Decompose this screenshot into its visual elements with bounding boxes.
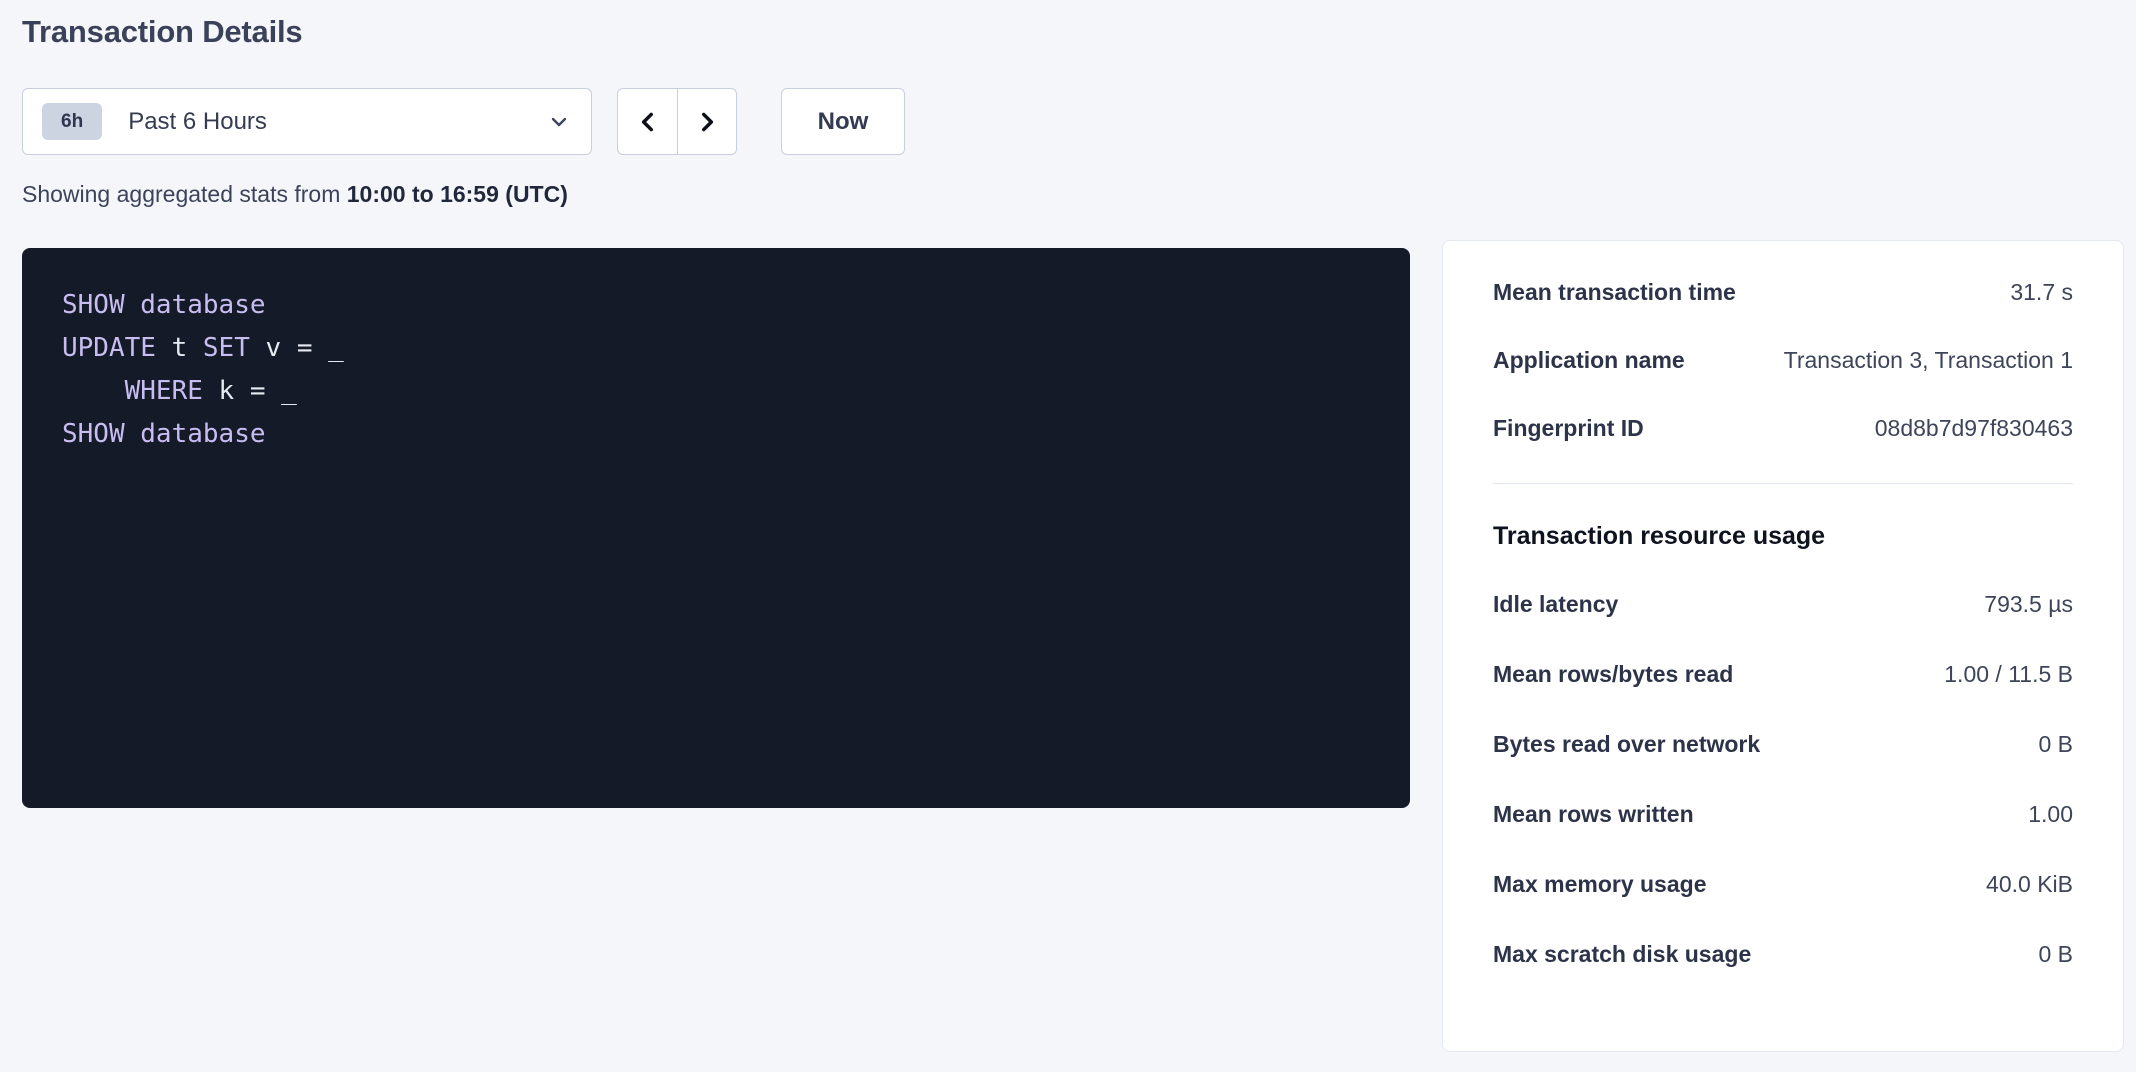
detail-row-label: Fingerprint ID — [1493, 415, 1644, 442]
detail-row: Fingerprint ID08d8b7d97f830463 — [1493, 415, 2073, 442]
detail-row-label: Idle latency — [1493, 591, 1618, 618]
code-keyword: database — [140, 290, 265, 320]
sql-code-block[interactable]: SHOW databaseUPDATE t SET v = _ WHERE k … — [22, 248, 1410, 808]
code-line: SHOW database — [62, 413, 1370, 456]
detail-row-label: Max scratch disk usage — [1493, 941, 1751, 968]
code-identifier — [125, 290, 141, 320]
time-nav-group — [617, 88, 737, 155]
detail-row: Max scratch disk usage0 B — [1493, 941, 2073, 968]
time-range-label: Past 6 Hours — [128, 108, 549, 136]
previous-range-button[interactable] — [617, 88, 677, 155]
code-line: SHOW database — [62, 284, 1370, 327]
code-identifier: v = _ — [250, 333, 344, 363]
detail-row: Application nameTransaction 3, Transacti… — [1493, 347, 2073, 374]
code-keyword: WHERE — [125, 376, 203, 406]
resource-usage-rows: Idle latency793.5 µsMean rows/bytes read… — [1493, 591, 2073, 968]
code-line: WHERE k = _ — [62, 370, 1370, 413]
code-identifier: t — [156, 333, 203, 363]
transaction-details-card: Mean transaction time31.7 sApplication n… — [1442, 240, 2124, 1052]
detail-row-value: 08d8b7d97f830463 — [1875, 415, 2073, 442]
detail-row: Max memory usage40.0 KiB — [1493, 871, 2073, 898]
code-keyword: SHOW — [62, 419, 125, 449]
detail-row-label: Mean rows written — [1493, 801, 1694, 828]
detail-row-value: Transaction 3, Transaction 1 — [1784, 347, 2073, 374]
page-title: Transaction Details — [22, 14, 302, 50]
detail-row: Mean rows/bytes read1.00 / 11.5 B — [1493, 661, 2073, 688]
chevron-down-icon — [549, 112, 569, 132]
detail-row-label: Max memory usage — [1493, 871, 1706, 898]
detail-row-value: 1.00 — [2028, 801, 2073, 828]
chevron-right-icon — [694, 109, 720, 135]
time-range-badge: 6h — [42, 103, 102, 140]
now-button[interactable]: Now — [781, 88, 905, 155]
detail-row-value: 31.7 s — [2010, 279, 2073, 306]
caption-prefix: Showing aggregated stats from — [22, 181, 347, 207]
detail-row: Mean rows written1.00 — [1493, 801, 2073, 828]
detail-row-value: 1.00 / 11.5 B — [1944, 661, 2073, 688]
code-identifier: k = _ — [203, 376, 297, 406]
detail-row: Bytes read over network0 B — [1493, 731, 2073, 758]
detail-row-label: Mean rows/bytes read — [1493, 661, 1733, 688]
code-identifier — [62, 376, 125, 406]
time-range-select[interactable]: 6h Past 6 Hours — [22, 88, 592, 155]
detail-row-value: 793.5 µs — [1984, 591, 2073, 618]
code-keyword: database — [140, 419, 265, 449]
code-identifier — [125, 419, 141, 449]
code-keyword: UPDATE — [62, 333, 156, 363]
code-line: UPDATE t SET v = _ — [62, 327, 1370, 370]
resource-usage-heading: Transaction resource usage — [1493, 522, 2073, 551]
chevron-left-icon — [635, 109, 661, 135]
detail-row: Mean transaction time31.7 s — [1493, 279, 2073, 306]
card-divider — [1493, 483, 2073, 484]
time-range-toolbar: 6h Past 6 Hours Now — [22, 88, 905, 155]
aggregation-caption: Showing aggregated stats from 10:00 to 1… — [22, 181, 568, 208]
detail-row: Idle latency793.5 µs — [1493, 591, 2073, 618]
code-keyword: SET — [203, 333, 250, 363]
detail-row-label: Application name — [1493, 347, 1685, 374]
detail-row-value: 40.0 KiB — [1986, 871, 2073, 898]
detail-row-value: 0 B — [2038, 941, 2073, 968]
detail-row-label: Mean transaction time — [1493, 279, 1736, 306]
summary-rows: Mean transaction time31.7 sApplication n… — [1493, 279, 2073, 442]
caption-range: 10:00 to 16:59 (UTC) — [347, 181, 568, 207]
code-keyword: SHOW — [62, 290, 125, 320]
next-range-button[interactable] — [677, 88, 737, 155]
detail-row-value: 0 B — [2038, 731, 2073, 758]
detail-row-label: Bytes read over network — [1493, 731, 1760, 758]
